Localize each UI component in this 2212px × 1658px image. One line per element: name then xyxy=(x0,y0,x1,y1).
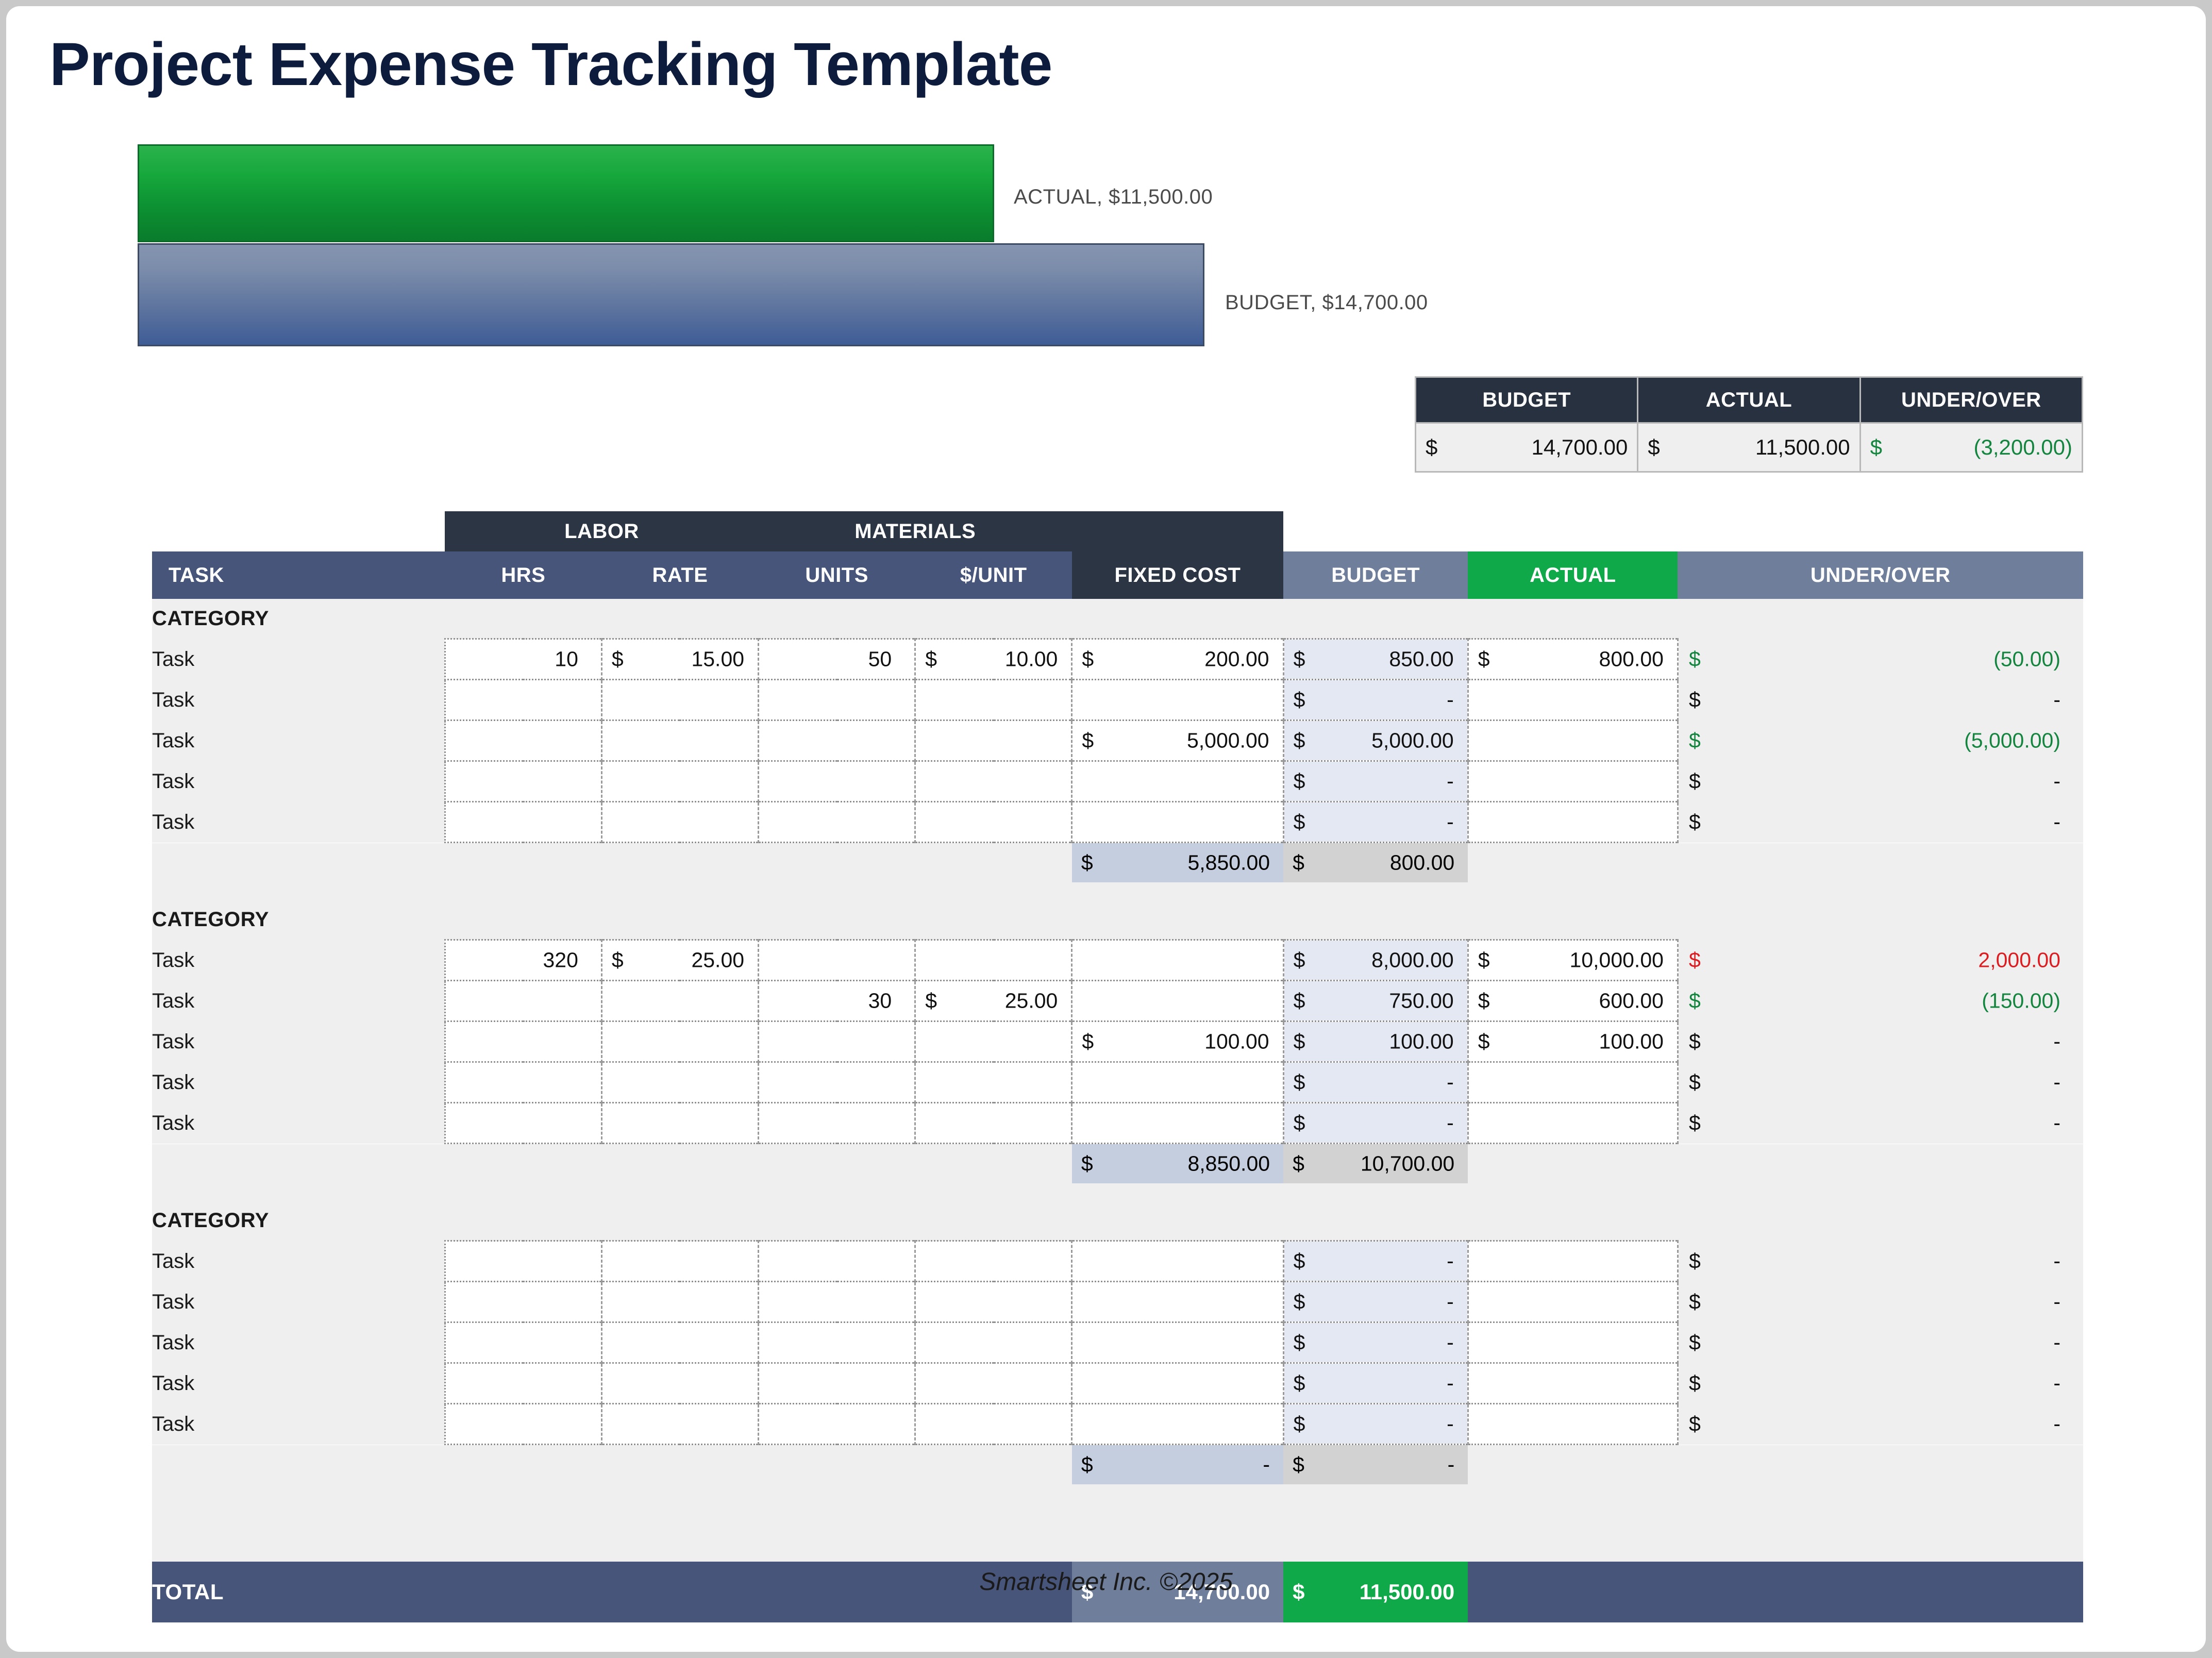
column-header-row: TASK HRS RATE UNITS $/UNIT FIXED COST BU… xyxy=(152,551,2083,599)
cell-rate[interactable] xyxy=(601,1282,758,1322)
table-row[interactable]: Task $- $- xyxy=(152,1363,2083,1404)
bar-budget xyxy=(138,243,1204,346)
task-name: Task xyxy=(152,761,445,802)
table-row[interactable]: Task $5,000.00 $5,000.00 $(5,000.00) xyxy=(152,721,2083,761)
summary-actual-cell: $ 11,500.00 xyxy=(1638,423,1860,472)
cell-budget: $- xyxy=(1283,1322,1468,1363)
cell-rate[interactable] xyxy=(601,1241,758,1282)
category-label-3: CATEGORY xyxy=(152,1201,2083,1241)
subtotal-actual: $- xyxy=(1283,1445,1468,1485)
cell-fixed-cost[interactable] xyxy=(1072,1062,1283,1103)
subtotal-spacer-2 xyxy=(1468,843,2083,883)
cell-rate[interactable]: $25.00 xyxy=(601,940,758,981)
table-row[interactable]: Task $- $- xyxy=(152,802,2083,843)
cell-units[interactable] xyxy=(759,1404,915,1445)
cell-actual[interactable] xyxy=(1468,680,1678,721)
cell-budget: $750.00 xyxy=(1283,981,1468,1021)
summary-under-over-value: (3,200.00) xyxy=(1870,435,2072,460)
cell-under-over: $- xyxy=(1678,802,2083,843)
subtotal-budget: $- xyxy=(1072,1445,1283,1485)
cell-hrs[interactable] xyxy=(445,1021,601,1062)
budget-vs-actual-bar-chart: ACTUAL, $11,500.00 BUDGET, $14,700.00 xyxy=(138,144,1735,361)
table-row[interactable]: Task $- $- xyxy=(152,1103,2083,1144)
subtotal-spacer xyxy=(152,1445,1072,1485)
category-label-2: CATEGORY xyxy=(152,900,2083,940)
summary-budget-cell: $ 14,700.00 xyxy=(1416,423,1638,472)
subtotal-row: $8,850.00 $10,700.00 xyxy=(152,1144,2083,1184)
subtotal-budget: $8,850.00 xyxy=(1072,1144,1283,1184)
group-header-row: LABOR MATERIALS xyxy=(152,511,2083,551)
category-row: CATEGORY xyxy=(152,599,2083,639)
table-row[interactable]: Task $- $- xyxy=(152,1322,2083,1363)
cell-unit-cost[interactable] xyxy=(915,940,1072,981)
cell-units[interactable] xyxy=(759,1103,915,1144)
task-name: Task xyxy=(152,940,445,981)
cell-actual[interactable] xyxy=(1468,1363,1678,1404)
col-header-actual: ACTUAL xyxy=(1468,551,1678,599)
group-blank-3 xyxy=(1468,511,1678,551)
cell-units[interactable] xyxy=(759,1021,915,1062)
cell-actual[interactable] xyxy=(1468,761,1678,802)
category-row: CATEGORY xyxy=(152,900,2083,940)
group-blank-fixed xyxy=(1072,511,1283,551)
cell-hrs[interactable]: 10 xyxy=(445,639,601,680)
cell-hrs[interactable] xyxy=(445,1062,601,1103)
cell-under-over: $- xyxy=(1678,680,2083,721)
cell-unit-cost[interactable] xyxy=(915,802,1072,843)
cell-unit-cost[interactable] xyxy=(915,1363,1072,1404)
cell-fixed-cost[interactable] xyxy=(1072,680,1283,721)
task-name: Task xyxy=(152,1363,445,1404)
cell-actual[interactable] xyxy=(1468,1103,1678,1144)
cell-unit-cost[interactable] xyxy=(915,1282,1072,1322)
cell-units[interactable] xyxy=(759,721,915,761)
task-name: Task xyxy=(152,1282,445,1322)
subtotal-spacer xyxy=(152,843,1072,883)
cell-hrs[interactable] xyxy=(445,981,601,1021)
cell-rate[interactable] xyxy=(601,981,758,1021)
table-row[interactable]: Task 320 $25.00 $8,000.00 $10,000.00 $2,… xyxy=(152,940,2083,981)
cell-hrs[interactable] xyxy=(445,761,601,802)
summary-header-row: BUDGET ACTUAL UNDER/OVER xyxy=(1416,377,2083,423)
cell-hrs[interactable] xyxy=(445,1404,601,1445)
cell-hrs[interactable] xyxy=(445,802,601,843)
cell-under-over: $(50.00) xyxy=(1678,639,2083,680)
cell-hrs[interactable] xyxy=(445,1322,601,1363)
cell-actual[interactable]: $100.00 xyxy=(1468,1021,1678,1062)
cell-rate[interactable] xyxy=(601,1103,758,1144)
cell-under-over: $- xyxy=(1678,1322,2083,1363)
cell-fixed-cost[interactable] xyxy=(1072,1322,1283,1363)
cell-fixed-cost[interactable] xyxy=(1072,761,1283,802)
summary-header-budget: BUDGET xyxy=(1416,377,1638,423)
summary-value-row: $ 14,700.00 $ 11,500.00 $ (3,200.00) xyxy=(1416,423,2083,472)
cell-fixed-cost[interactable] xyxy=(1072,1404,1283,1445)
subtotal-row: $- $- xyxy=(152,1445,2083,1485)
col-header-unit-cost: $/UNIT xyxy=(915,551,1072,599)
cell-units[interactable] xyxy=(759,802,915,843)
task-name: Task xyxy=(152,639,445,680)
col-header-rate: RATE xyxy=(601,551,758,599)
cell-fixed-cost[interactable]: $100.00 xyxy=(1072,1021,1283,1062)
cell-actual[interactable] xyxy=(1468,802,1678,843)
cell-fixed-cost[interactable]: $5,000.00 xyxy=(1072,721,1283,761)
cell-budget: $- xyxy=(1283,761,1468,802)
cell-hrs[interactable] xyxy=(445,1282,601,1322)
summary-header-actual: ACTUAL xyxy=(1638,377,1860,423)
col-header-fixed-cost: FIXED COST xyxy=(1072,551,1283,599)
cell-rate[interactable] xyxy=(601,721,758,761)
cell-unit-cost[interactable]: $25.00 xyxy=(915,981,1072,1021)
cell-budget: $- xyxy=(1283,1241,1468,1282)
task-name: Task xyxy=(152,680,445,721)
cell-rate[interactable] xyxy=(601,761,758,802)
cell-budget: $- xyxy=(1283,1062,1468,1103)
cell-units[interactable]: 30 xyxy=(759,981,915,1021)
cell-under-over: $- xyxy=(1678,1103,2083,1144)
table-row[interactable]: Task $- $- xyxy=(152,1062,2083,1103)
table-row[interactable]: Task 30 $25.00 $750.00 $600.00 $(150.00) xyxy=(152,981,2083,1021)
footer-copyright: Smartsheet Inc. ©2025 xyxy=(6,1568,2206,1596)
group-header-labor: LABOR xyxy=(445,511,758,551)
task-name: Task xyxy=(152,1103,445,1144)
task-name: Task xyxy=(152,1241,445,1282)
cell-under-over: $- xyxy=(1678,1062,2083,1103)
cell-hrs[interactable] xyxy=(445,721,601,761)
cell-actual[interactable] xyxy=(1468,721,1678,761)
cell-unit-cost[interactable] xyxy=(915,1062,1072,1103)
cell-rate[interactable] xyxy=(601,1062,758,1103)
summary-budget-value: 14,700.00 xyxy=(1426,435,1628,460)
section-spacer xyxy=(152,882,2083,900)
cell-budget: $- xyxy=(1283,1103,1468,1144)
cell-under-over: $- xyxy=(1678,1404,2083,1445)
cell-fixed-cost[interactable] xyxy=(1072,1363,1283,1404)
cell-under-over: $- xyxy=(1678,1241,2083,1282)
cell-under-over: $(5,000.00) xyxy=(1678,721,2083,761)
cell-unit-cost[interactable] xyxy=(915,721,1072,761)
cell-actual[interactable] xyxy=(1468,1404,1678,1445)
col-header-under-over: UNDER/OVER xyxy=(1678,551,2083,599)
cell-under-over: $2,000.00 xyxy=(1678,940,2083,981)
table-row[interactable]: Task $- $- xyxy=(152,1241,2083,1282)
cell-budget: $850.00 xyxy=(1283,639,1468,680)
cell-rate[interactable] xyxy=(601,680,758,721)
expense-table: LABOR MATERIALS TASK HRS RATE UNITS $/UN… xyxy=(152,511,2083,1622)
cell-units[interactable] xyxy=(759,1241,915,1282)
currency-symbol: $ xyxy=(1870,435,1882,460)
cell-unit-cost[interactable] xyxy=(915,1103,1072,1144)
group-header-materials: MATERIALS xyxy=(759,511,1072,551)
cell-budget: $- xyxy=(1283,802,1468,843)
summary-table: BUDGET ACTUAL UNDER/OVER $ 14,700.00 $ 1… xyxy=(1415,376,2083,473)
subtotal-actual: $800.00 xyxy=(1283,843,1468,883)
task-name: Task xyxy=(152,1021,445,1062)
group-blank-5 xyxy=(1888,511,2083,551)
cell-hrs[interactable] xyxy=(445,1103,601,1144)
group-blank-2 xyxy=(1283,511,1468,551)
cell-rate[interactable] xyxy=(601,1021,758,1062)
bar-label-budget: BUDGET, $14,700.00 xyxy=(1225,291,1428,314)
cell-units[interactable] xyxy=(759,1062,915,1103)
task-name: Task xyxy=(152,802,445,843)
cell-fixed-cost[interactable] xyxy=(1072,802,1283,843)
cell-unit-cost[interactable] xyxy=(915,761,1072,802)
subtotal-actual: $10,700.00 xyxy=(1283,1144,1468,1184)
table-row[interactable]: Task $- $- xyxy=(152,761,2083,802)
cell-actual[interactable]: $10,000.00 xyxy=(1468,940,1678,981)
cell-actual[interactable] xyxy=(1468,1062,1678,1103)
group-blank xyxy=(152,511,445,551)
task-name: Task xyxy=(152,1322,445,1363)
bar-actual xyxy=(138,144,994,242)
summary-header-under-over: UNDER/OVER xyxy=(1860,377,2082,423)
cell-rate[interactable] xyxy=(601,1363,758,1404)
cell-budget: $- xyxy=(1283,1363,1468,1404)
cell-fixed-cost[interactable] xyxy=(1072,981,1283,1021)
task-name: Task xyxy=(152,1062,445,1103)
cell-under-over: $(150.00) xyxy=(1678,981,2083,1021)
cell-units[interactable] xyxy=(759,1363,915,1404)
cell-rate[interactable] xyxy=(601,1404,758,1445)
cell-unit-cost[interactable] xyxy=(915,1241,1072,1282)
cell-hrs[interactable] xyxy=(445,1363,601,1404)
cell-unit-cost[interactable] xyxy=(915,1404,1072,1445)
subtotal-row: $5,850.00 $800.00 xyxy=(152,843,2083,883)
task-name: Task xyxy=(152,981,445,1021)
table-row[interactable]: Task $- $- xyxy=(152,1404,2083,1445)
category-label-1: CATEGORY xyxy=(152,599,2083,639)
category-row: CATEGORY xyxy=(152,1201,2083,1241)
section-spacer xyxy=(152,1484,2083,1562)
group-blank-4 xyxy=(1678,511,1887,551)
cell-fixed-cost[interactable] xyxy=(1072,1103,1283,1144)
cell-rate[interactable] xyxy=(601,802,758,843)
cell-budget: $100.00 xyxy=(1283,1021,1468,1062)
task-name: Task xyxy=(152,1404,445,1445)
cell-actual[interactable]: $600.00 xyxy=(1468,981,1678,1021)
table-row[interactable]: Task 10 $15.00 50 $10.00 $200.00 $850.00… xyxy=(152,639,2083,680)
cell-fixed-cost[interactable] xyxy=(1072,940,1283,981)
task-name: Task xyxy=(152,721,445,761)
table-row[interactable]: Task $- $- xyxy=(152,1282,2083,1322)
cell-under-over: $- xyxy=(1678,1363,2083,1404)
col-header-budget: BUDGET xyxy=(1283,551,1468,599)
subtotal-spacer-2 xyxy=(1468,1144,2083,1184)
cell-unit-cost[interactable] xyxy=(915,680,1072,721)
cell-budget: $- xyxy=(1283,1404,1468,1445)
cell-rate[interactable] xyxy=(601,1322,758,1363)
col-header-hrs: HRS xyxy=(445,551,601,599)
cell-hrs[interactable]: 320 xyxy=(445,940,601,981)
cell-unit-cost[interactable] xyxy=(915,1322,1072,1363)
cell-units[interactable]: 50 xyxy=(759,639,915,680)
table-row[interactable]: Task $- $- xyxy=(152,680,2083,721)
table-row[interactable]: Task $100.00 $100.00 $100.00 $- xyxy=(152,1021,2083,1062)
cell-units[interactable] xyxy=(759,680,915,721)
col-header-task: TASK xyxy=(152,551,445,599)
cell-unit-cost[interactable] xyxy=(915,1021,1072,1062)
cell-fixed-cost[interactable] xyxy=(1072,1241,1283,1282)
bar-label-actual: ACTUAL, $11,500.00 xyxy=(1014,186,1213,209)
col-header-units: UNITS xyxy=(759,551,915,599)
cell-under-over: $- xyxy=(1678,1021,2083,1062)
cell-units[interactable] xyxy=(759,1322,915,1363)
section-spacer xyxy=(152,1183,2083,1201)
currency-symbol: $ xyxy=(1648,435,1660,460)
cell-fixed-cost[interactable] xyxy=(1072,1282,1283,1322)
cell-units[interactable] xyxy=(759,940,915,981)
summary-under-over-cell: $ (3,200.00) xyxy=(1860,423,2082,472)
cell-budget: $8,000.00 xyxy=(1283,940,1468,981)
cell-fixed-cost[interactable]: $200.00 xyxy=(1072,639,1283,680)
cell-actual[interactable] xyxy=(1468,1241,1678,1282)
cell-budget: $- xyxy=(1283,680,1468,721)
subtotal-spacer xyxy=(152,1144,1072,1184)
template-page: Project Expense Tracking Template ACTUAL… xyxy=(6,6,2206,1652)
cell-unit-cost[interactable]: $10.00 xyxy=(915,639,1072,680)
cell-rate[interactable]: $15.00 xyxy=(601,639,758,680)
cell-under-over: $- xyxy=(1678,761,2083,802)
cell-units[interactable] xyxy=(759,761,915,802)
page-title: Project Expense Tracking Template xyxy=(49,33,1052,97)
cell-actual[interactable]: $800.00 xyxy=(1468,639,1678,680)
cell-hrs[interactable] xyxy=(445,1241,601,1282)
cell-actual[interactable] xyxy=(1468,1282,1678,1322)
cell-budget: $5,000.00 xyxy=(1283,721,1468,761)
cell-units[interactable] xyxy=(759,1282,915,1322)
cell-actual[interactable] xyxy=(1468,1322,1678,1363)
summary-actual-value: 11,500.00 xyxy=(1648,435,1850,460)
cell-under-over: $- xyxy=(1678,1282,2083,1322)
cell-hrs[interactable] xyxy=(445,680,601,721)
subtotal-spacer-2 xyxy=(1468,1445,2083,1485)
subtotal-budget: $5,850.00 xyxy=(1072,843,1283,883)
currency-symbol: $ xyxy=(1426,435,1437,460)
cell-budget: $- xyxy=(1283,1282,1468,1322)
